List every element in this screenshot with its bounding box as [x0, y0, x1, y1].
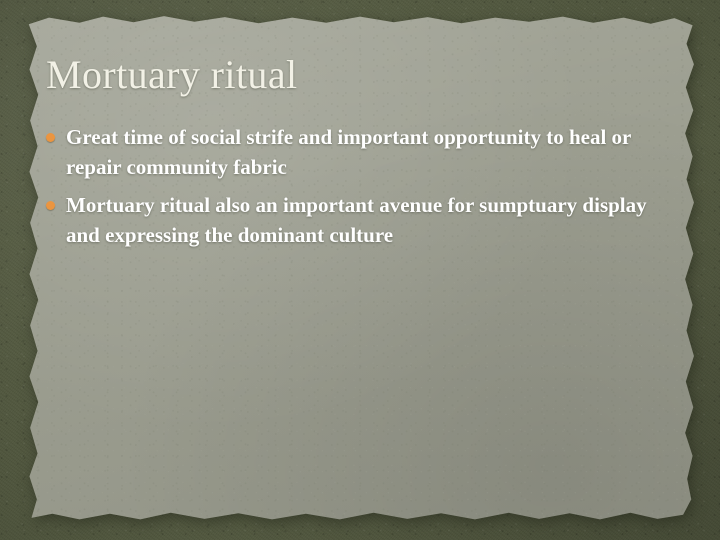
slide-title: Mortuary ritual: [46, 51, 298, 99]
bullet-list: Great time of social strife and importan…: [36, 122, 670, 258]
bullet-dot-icon: [46, 201, 55, 210]
bullet-dot-icon: [46, 133, 55, 142]
list-item-label: Great time of social strife and importan…: [66, 122, 670, 182]
list-item: Great time of social strife and importan…: [36, 122, 670, 182]
presentation-slide: Mortuary ritual Great time of social str…: [0, 0, 720, 540]
list-item-label: Mortuary ritual also an important avenue…: [66, 190, 670, 250]
slide-content: Mortuary ritual Great time of social str…: [0, 0, 720, 540]
list-item: Mortuary ritual also an important avenue…: [36, 190, 670, 250]
